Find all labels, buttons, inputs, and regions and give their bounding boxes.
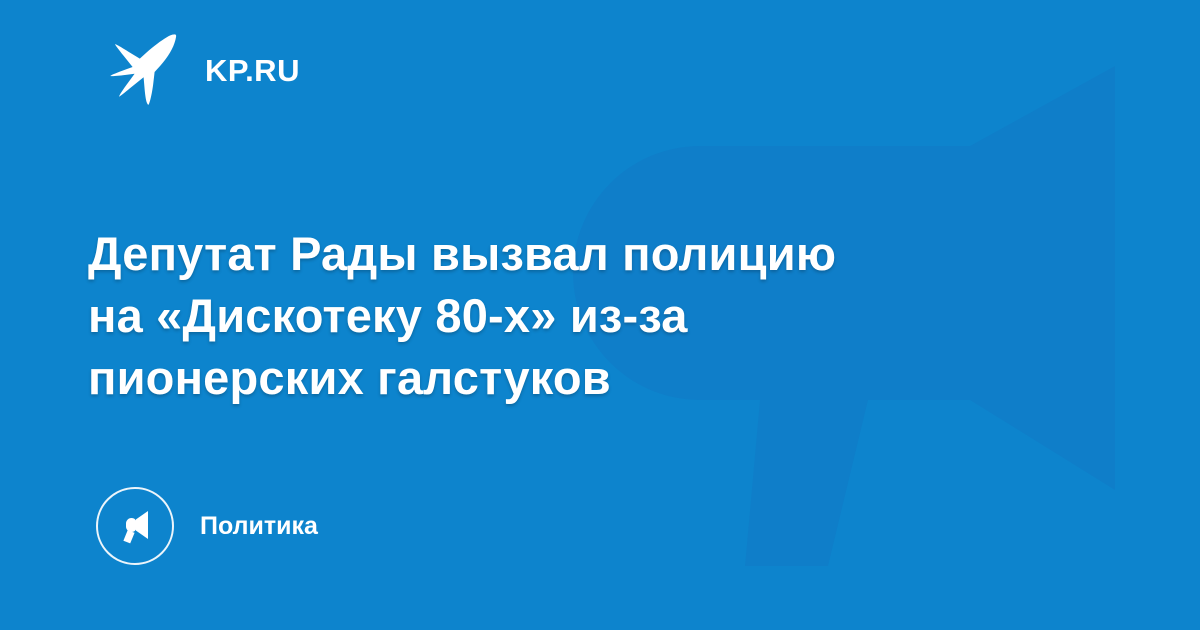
headline-line-2: на «Дискотеку 80-х» из-за — [88, 285, 1048, 347]
swallow-bird-icon — [103, 34, 179, 106]
brand-logo[interactable]: KP.RU — [103, 34, 300, 106]
headline-line-3: пионерских галстуков — [88, 347, 1048, 409]
social-share-card: KP.RU Депутат Рады вызвал полицию на «Ди… — [0, 0, 1200, 630]
brand-name: KP.RU — [205, 55, 300, 86]
category-badge[interactable]: Политика — [96, 486, 318, 566]
megaphone-icon — [96, 487, 174, 565]
category-label: Политика — [200, 514, 318, 539]
page-title: Депутат Рады вызвал полицию на «Дискотек… — [88, 223, 1048, 409]
headline-line-1: Депутат Рады вызвал полицию — [88, 223, 1048, 285]
